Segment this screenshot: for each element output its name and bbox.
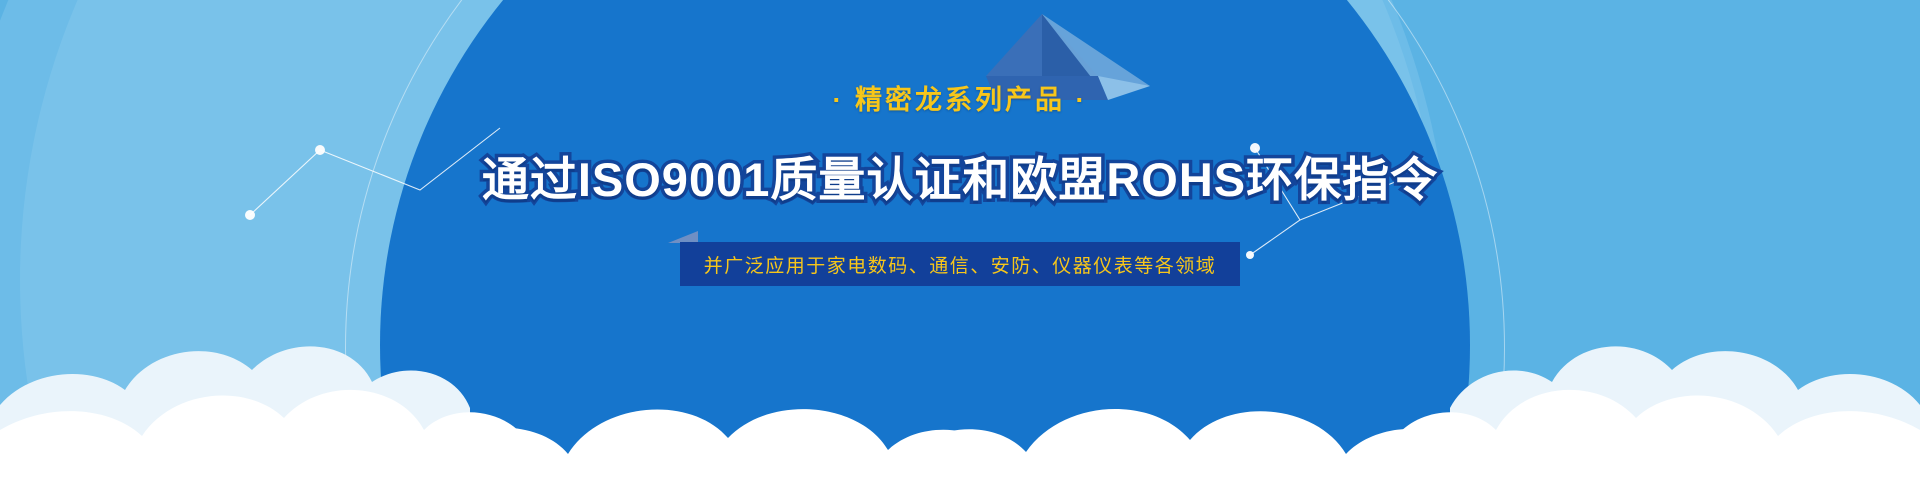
banner-headline-wrap: 通过ISO9001质量认证和欧盟ROHS环保指令 — [482, 141, 1438, 210]
banner-headline: 通过ISO9001质量认证和欧盟ROHS环保指令 — [482, 141, 1438, 210]
promo-banner: · 精密龙系列产品 · 通过ISO9001质量认证和欧盟ROHS环保指令 并广泛… — [0, 0, 1920, 480]
ribbon-bar: 并广泛应用于家电数码、通信、安防、仪器仪表等各领域 — [680, 242, 1240, 286]
banner-subtitle: 并广泛应用于家电数码、通信、安防、仪器仪表等各领域 — [704, 251, 1217, 278]
banner-eyebrow: · 精密龙系列产品 · — [833, 78, 1088, 117]
banner-content: · 精密龙系列产品 · 通过ISO9001质量认证和欧盟ROHS环保指令 并广泛… — [0, 0, 1920, 480]
banner-subtitle-ribbon: 并广泛应用于家电数码、通信、安防、仪器仪表等各领域 — [680, 242, 1240, 286]
